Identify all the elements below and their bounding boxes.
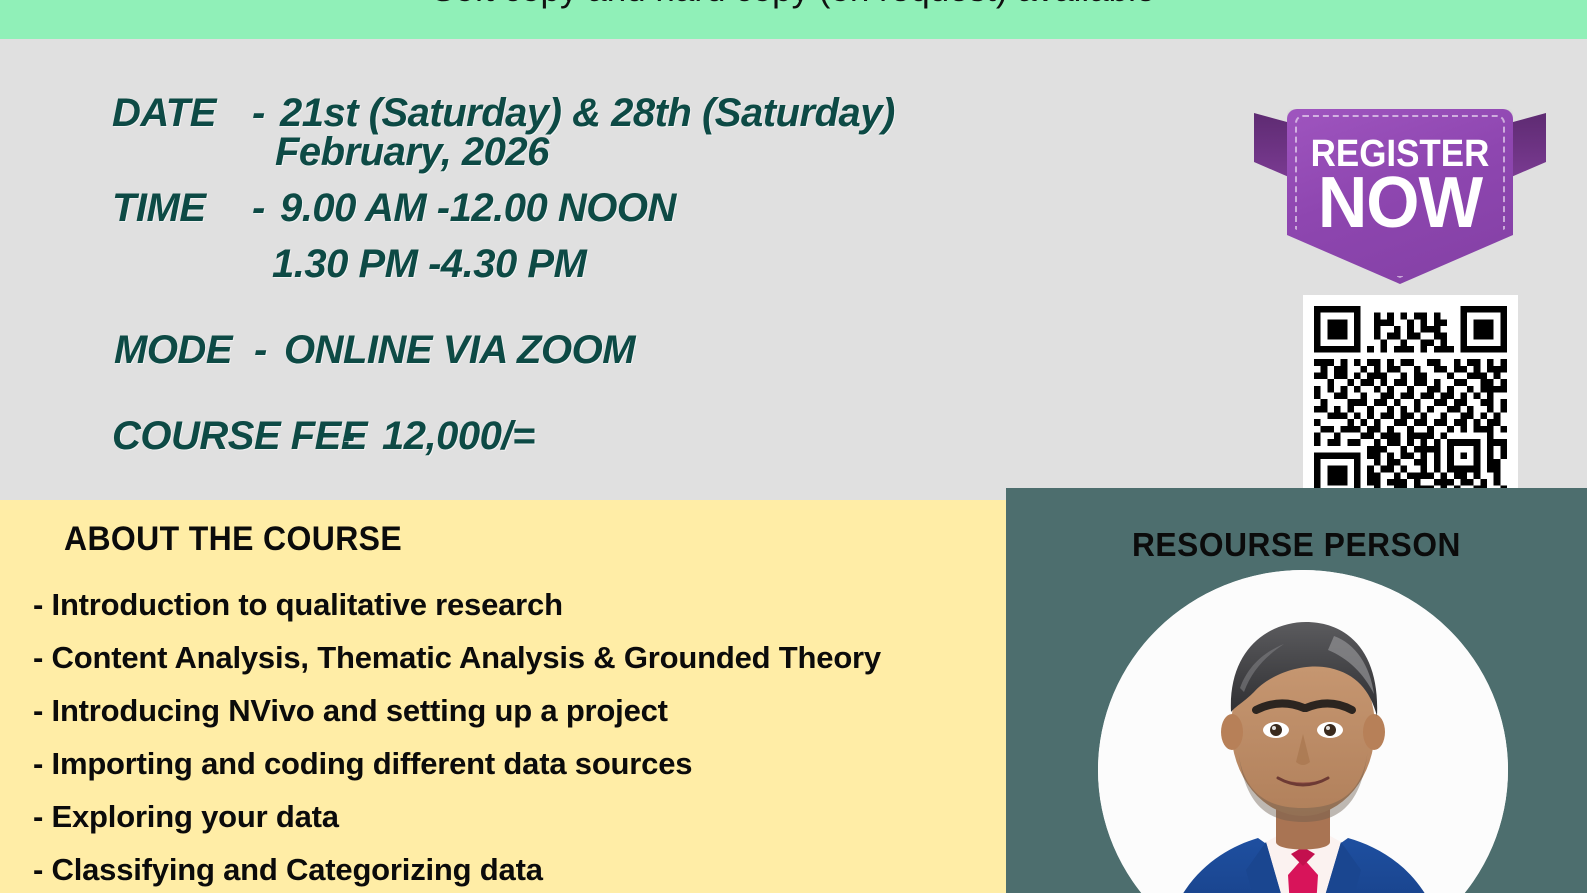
time-dash: - (252, 186, 280, 231)
list-item: - Introduction to qualitative research (33, 578, 1013, 631)
detail-row-time-line2: 1.30 PM -4.30 PM (272, 242, 586, 287)
qr-code-icon[interactable] (1303, 295, 1518, 510)
about-the-course-list: - Introduction to qualitative research -… (33, 578, 1013, 893)
time-label: TIME (112, 186, 252, 231)
detail-row-date-line2: February, 2026 (275, 130, 549, 175)
top-banner-text: Soft copy and hard copy (on request) ava… (0, 0, 1587, 10)
detail-row-course-fee: COURSE FEE-12,000/= (112, 414, 535, 459)
mode-label: MODE (114, 328, 254, 373)
date-label: DATE (112, 91, 252, 136)
resource-person-title: RESOURSE PERSON (1018, 526, 1576, 564)
list-item: - Content Analysis, Thematic Analysis & … (33, 631, 1013, 684)
about-the-course-title: ABOUT THE COURSE (64, 520, 402, 559)
qr-code-svg (1314, 306, 1507, 499)
ribbon-line2-text: NOW (1293, 167, 1508, 239)
resource-person-section: RESOURSE PERSON (1006, 488, 1587, 893)
detail-row-mode: MODE-ONLINE VIA ZOOM (114, 328, 635, 373)
time-value-line2: 1.30 PM -4.30 PM (272, 242, 586, 287)
register-now-ribbon[interactable]: REGISTER NOW (1254, 109, 1546, 284)
resource-person-photo (1098, 570, 1508, 893)
poster-canvas: Soft copy and hard copy (on request) ava… (0, 0, 1587, 893)
date-value-line2: February, 2026 (275, 130, 549, 175)
detail-row-time: TIME-9.00 AM -12.00 NOON (112, 186, 676, 231)
top-banner: Soft copy and hard copy (on request) ava… (0, 0, 1587, 39)
course-details-section: DATE-21st (Saturday) & 28th (Saturday) F… (0, 39, 1587, 500)
list-item: - Classifying and Categorizing data (33, 843, 1013, 893)
avatar (1098, 570, 1508, 893)
course-fee-value: 12,000/= (382, 414, 535, 459)
mode-dash: - (254, 328, 284, 373)
list-item: - Exploring your data (33, 790, 1013, 843)
time-value: 9.00 AM -12.00 NOON (280, 186, 676, 231)
course-fee-label: COURSE FEE (112, 414, 342, 459)
course-fee-dash: - (342, 414, 382, 459)
mode-value: ONLINE VIA ZOOM (284, 328, 635, 373)
about-the-course-section: ABOUT THE COURSE - Introduction to quali… (0, 500, 1006, 893)
list-item: - Introducing NVivo and setting up a pro… (33, 684, 1013, 737)
list-item: - Importing and coding different data so… (33, 737, 1013, 790)
